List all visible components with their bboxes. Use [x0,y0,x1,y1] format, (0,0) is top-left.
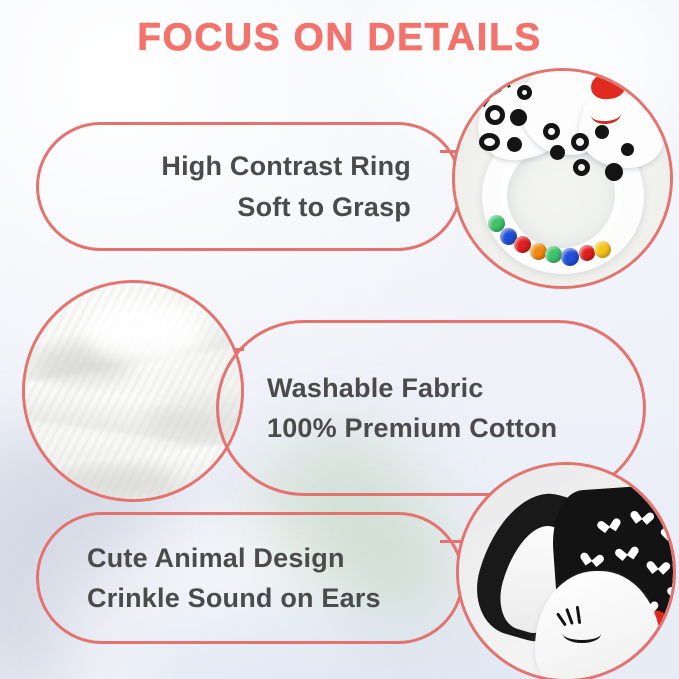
bow-dot-6 [621,143,634,156]
bow-dot-1 [510,109,527,126]
fabric-shadow-3 [45,463,175,497]
bow-dot-ring-2 [479,133,500,151]
bow-dot-5 [605,163,623,181]
feature-line-2: Soft to Grasp [237,187,411,228]
heart-pattern [584,548,601,563]
feature-line-1: Cute Animal Design [87,538,345,579]
feature-line-1: High Contrast Ring [161,146,411,187]
bow-dot-ring-4 [571,133,589,151]
heart-pattern [600,514,617,529]
fabric-highlight [85,303,205,363]
feature-capsule-cute-animal-design: Cute Animal Design Crinkle Sound on Ears [36,512,464,644]
heart-pattern [634,506,650,520]
bead-red-1 [514,236,531,253]
bow-dot-ring-6 [517,85,532,100]
bead-green-2 [545,246,562,263]
bead-yellow-1 [594,241,611,258]
cat-closed-eye [563,625,601,643]
rattle-ring-photo [452,68,673,289]
feature-line-2: 100% Premium Cotton [267,408,557,449]
heart-pattern [618,542,635,557]
bead-red-2 [579,245,595,261]
feature-capsule-high-contrast-ring: High Contrast Ring Soft to Grasp [36,122,462,251]
bow-dot-ring-3 [543,123,560,140]
bow-dot-ring-5 [573,159,590,176]
product-feature-poster: FOCUS ON DETAILS High Contrast Ring Soft… [0,0,679,679]
page-title: FOCUS ON DETAILS [0,18,679,57]
bow-dot-2 [507,137,522,152]
bow-dot-4 [595,125,609,139]
bow-dot-3 [550,145,565,160]
heart-pattern [670,580,673,595]
cotton-fabric-photo [22,280,244,502]
heart-pattern [651,556,667,570]
feature-line-2: Crinkle Sound on Ears [87,578,381,619]
bead-blue-2 [561,248,579,266]
feature-line-1: Washable Fabric [267,368,484,409]
heart-pattern [665,522,673,536]
bow-dot-ring-1 [485,105,505,125]
cat-face-photo [456,462,676,679]
heart-pattern [664,616,673,630]
